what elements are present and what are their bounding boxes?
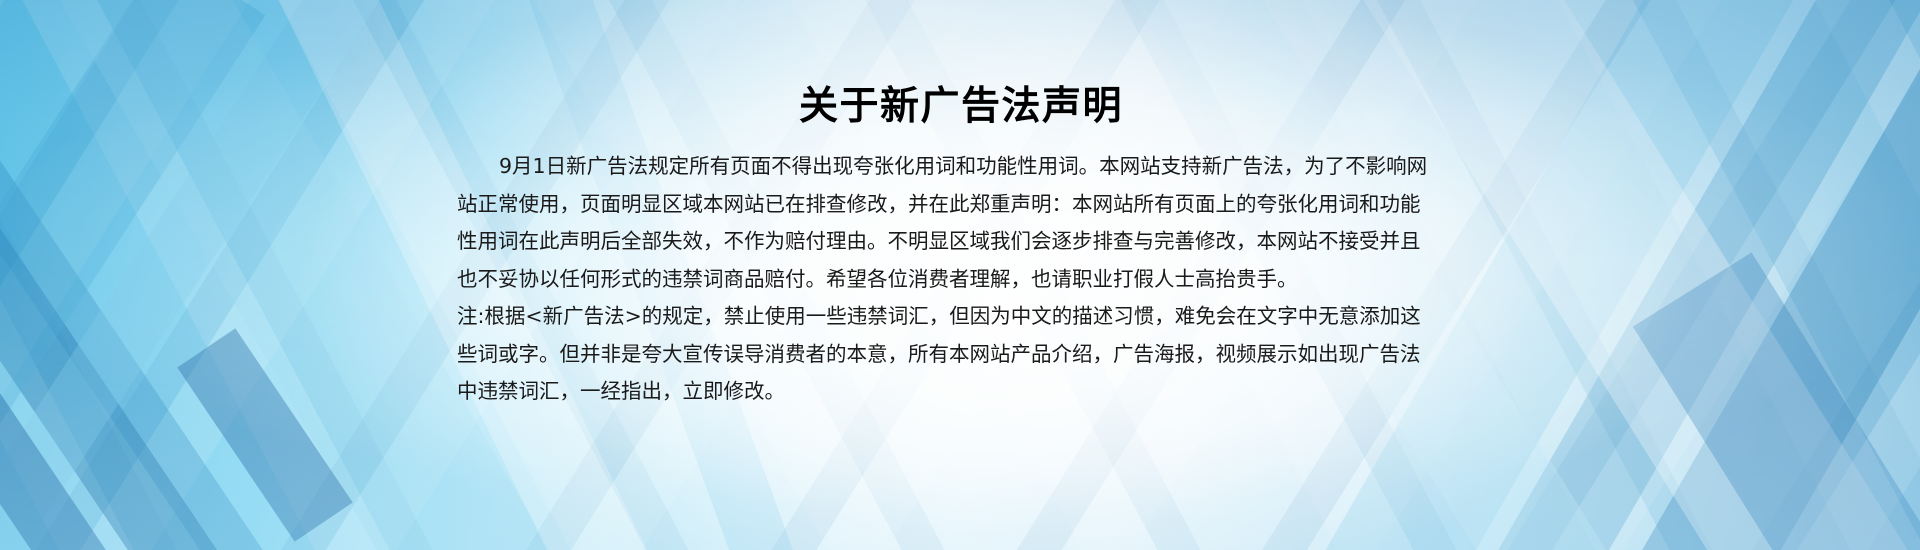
advertising-law-statement-banner: 关于新广告法声明 9月1日新广告法规定所有页面不得出现夸张化用词和功能性用词。本… <box>0 0 1920 550</box>
statement-line: 性用词在此声明后全部失效，不作为赔付理由。不明显区域我们会逐步排查与完善修改，本… <box>457 223 1465 261</box>
background-ribbon <box>0 308 111 550</box>
background-ribbon <box>0 0 329 550</box>
statement-line-text: 9月1日新广告法规定所有页面不得出现夸张化用词和功能性用词。本网站支持新广告法，… <box>499 154 1427 178</box>
statement-line: 些词或字。但并非是夸大宣传误导消费者的本意，所有本网站产品介绍，广告海报，视频展… <box>457 336 1465 374</box>
background-ribbon <box>177 328 352 541</box>
statement-line: 9月1日新广告法规定所有页面不得出现夸张化用词和功能性用词。本网站支持新广告法，… <box>457 148 1465 186</box>
page-title: 关于新广告法声明 <box>449 83 1473 132</box>
background-ribbon <box>0 0 265 550</box>
background-ribbon <box>0 0 448 550</box>
statement-paragraph-main: 9月1日新广告法规定所有页面不得出现夸张化用词和功能性用词。本网站支持新广告法，… <box>457 148 1465 298</box>
background-ribbon <box>1406 0 1920 550</box>
background-ribbon <box>1633 252 1920 550</box>
statement-body: 9月1日新广告法规定所有页面不得出现夸张化用词和功能性用词。本网站支持新广告法，… <box>457 148 1465 411</box>
statement-paragraph-note: 注:根据<新广告法>的规定，禁止使用一些违禁词汇，但因为中文的描述习惯，难免会在… <box>457 298 1465 411</box>
statement-line: 也不妥协以任何形式的违禁词商品赔付。希望各位消费者理解，也请职业打假人士高抬贵手… <box>457 261 1465 299</box>
statement-line: 注:根据<新广告法>的规定，禁止使用一些违禁词汇，但因为中文的描述习惯，难免会在… <box>457 298 1465 336</box>
background-ribbon <box>1553 0 1920 550</box>
statement-line: 中违禁词汇，一经指出，立即修改。 <box>457 373 1465 411</box>
statement-content: 关于新广告法声明 9月1日新广告法规定所有页面不得出现夸张化用词和功能性用词。本… <box>449 0 1473 550</box>
background-ribbon <box>0 0 257 550</box>
statement-line: 站正常使用，页面明显区域本网站已在排查修改，并在此郑重声明：本网站所有页面上的夸… <box>457 186 1465 224</box>
